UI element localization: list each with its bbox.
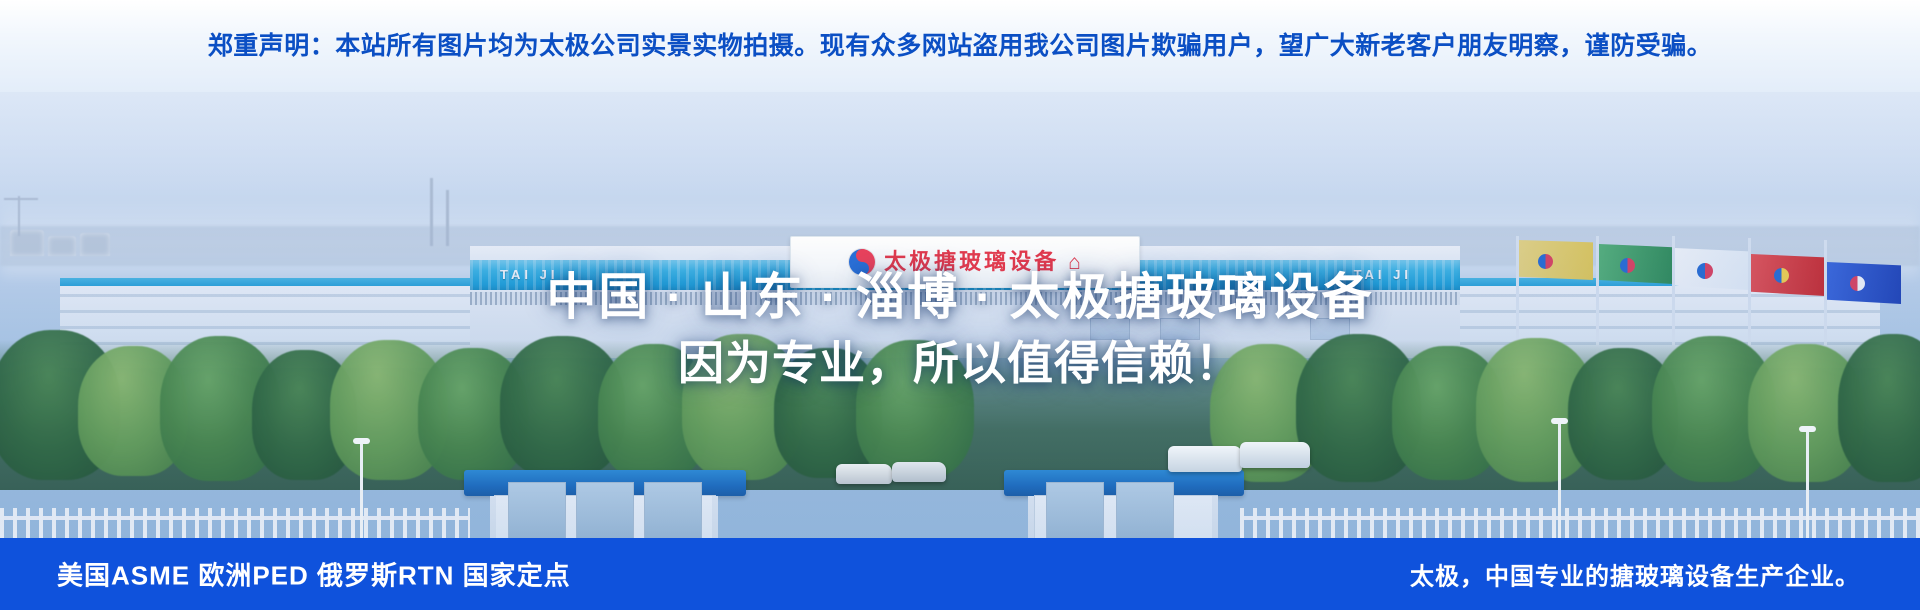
company-tagline-text: 太极，中国专业的搪玻璃设备生产企业。	[1410, 557, 1860, 592]
guard-house-right	[1020, 470, 1230, 538]
building-louvers	[470, 292, 1460, 305]
bottom-certification-bar: 美国ASME 欧洲PED 俄罗斯RTN 国家定点 太极，中国专业的搪玻璃设备生产…	[0, 538, 1920, 610]
flagpole	[1748, 238, 1751, 356]
storage-tank	[10, 230, 44, 256]
bus-white	[1240, 442, 1310, 468]
flag-emblem-icon	[1774, 268, 1789, 283]
street-lamp	[1558, 422, 1561, 538]
guard-house-window	[1046, 482, 1104, 538]
storage-tank	[48, 236, 76, 256]
smokestack	[446, 190, 449, 246]
guard-house-column	[1028, 496, 1034, 538]
flag-emblem-icon	[1697, 263, 1713, 279]
flagpole	[1596, 236, 1599, 356]
guard-house-window	[508, 482, 566, 538]
flag-emblem-icon	[1620, 258, 1635, 273]
guard-house-column	[490, 496, 496, 538]
street-lamp	[1806, 430, 1809, 538]
flag-yellow	[1519, 240, 1593, 280]
banner-page: 郑重声明：本站所有图片均为太极公司实景实物拍摄。现有众多网站盗用我公司图片欺骗用…	[0, 0, 1920, 610]
notice-strip: 郑重声明：本站所有图片均为太极公司实景实物拍摄。现有众多网站盗用我公司图片欺骗用…	[0, 0, 1920, 92]
flag-emblem-icon	[1850, 276, 1865, 291]
guard-house-window	[644, 482, 702, 538]
building-window	[1160, 318, 1200, 340]
bus-white	[1168, 446, 1242, 472]
tree	[856, 340, 974, 480]
roof-label-right: TAI JI	[1354, 267, 1412, 282]
flagpole	[1516, 236, 1519, 356]
crane	[4, 198, 38, 200]
tree	[1838, 334, 1920, 482]
fence-rail	[1240, 516, 1920, 520]
crane	[18, 196, 20, 236]
fence-rail	[0, 516, 470, 520]
building-sign-mark: ⌂	[1068, 252, 1081, 273]
building-window	[1090, 318, 1130, 340]
guard-house-window	[576, 482, 634, 538]
roof-label-left: TAI JI	[500, 267, 558, 282]
certifications-text: 美国ASME 欧洲PED 俄罗斯RTN 国家定点	[57, 556, 571, 593]
notice-text: 郑重声明：本站所有图片均为太极公司实景实物拍摄。现有众多网站盗用我公司图片欺骗用…	[208, 34, 1713, 59]
fence-right	[1240, 508, 1920, 538]
car-silver	[892, 462, 946, 482]
guard-house-left	[480, 470, 730, 538]
guard-house-column	[712, 496, 718, 538]
guard-house-column	[1212, 496, 1218, 538]
flagpole	[1824, 240, 1827, 356]
smokestack	[430, 178, 433, 246]
flag-emblem-icon	[1538, 254, 1553, 269]
car-silver	[836, 464, 892, 484]
flagpole	[1672, 236, 1675, 356]
storage-tank	[80, 233, 110, 256]
guard-house-window	[1116, 482, 1174, 538]
fence-left	[0, 508, 470, 538]
street-lamp	[360, 442, 363, 538]
factory-photo: TAI JI TAI JI 太极搪玻璃设备 ⌂	[0, 78, 1920, 538]
flag-green	[1599, 244, 1673, 284]
building-sign-text: 太极搪玻璃设备	[884, 251, 1059, 273]
building-sign-panel: 太极搪玻璃设备 ⌂	[790, 236, 1140, 288]
taiji-yinyang-icon	[849, 249, 875, 275]
